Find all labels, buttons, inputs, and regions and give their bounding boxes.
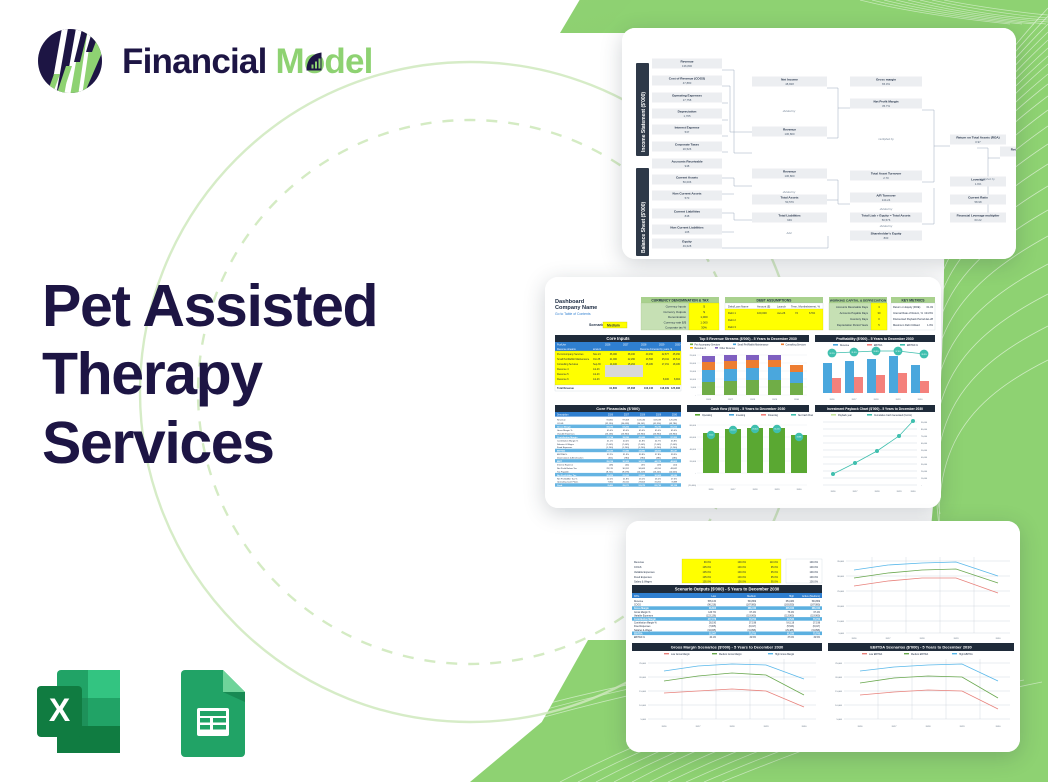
scenario-cell: (187,980)	[746, 605, 756, 607]
svg-text:Corporate tax %: Corporate tax %	[665, 326, 686, 330]
svg-text:CURRENCY DENOMINATION & TAX: CURRENCY DENOMINATION & TAX	[651, 298, 709, 302]
core-financials-header: Description	[557, 414, 569, 417]
svg-text:Medium EBITDA: Medium EBITDA	[911, 653, 929, 656]
svg-text:2028: 2028	[920, 638, 926, 640]
dupont-node-value: 570	[685, 196, 690, 200]
scenario-cell: 67.4%	[749, 612, 756, 614]
core-financials-cell: 81,312	[670, 427, 677, 429]
svg-text:COGS: COGS	[634, 566, 642, 569]
svg-text:105.0%: 105.0%	[703, 566, 712, 569]
core-financials-cell: (7,005)	[670, 444, 677, 446]
svg-text:23,604: 23,604	[752, 429, 758, 431]
svg-text:Fixed Expenses: Fixed Expenses	[634, 576, 653, 579]
brand-word-model-pre: M	[275, 42, 303, 81]
dashboard-screenshot[interactable]: Dashboard Company Name Go to Table of Co…	[545, 277, 941, 508]
svg-text:45,450: 45,450	[673, 353, 681, 356]
core-financials-cell: 59,670	[606, 427, 613, 429]
core-financials-cell: 65.0%	[671, 430, 677, 432]
scenario-cell: (5,543)	[787, 626, 795, 628]
dupont-node-value: 537	[685, 130, 690, 134]
svg-text:Accounts Receivable Days: Accounts Receivable Days	[836, 305, 869, 309]
svg-text:Revenue 4: Revenue 4	[557, 368, 569, 371]
svg-text:Debt 1: Debt 1	[728, 311, 736, 315]
svg-text:Total Revenue: Total Revenue	[557, 387, 575, 390]
svg-text:2028: 2028	[750, 399, 756, 401]
core-financials-cell: Gross Margin %	[557, 430, 572, 432]
svg-text:2027: 2027	[892, 726, 898, 728]
dupont-node-label: Depreciation	[678, 110, 697, 114]
scenario-cell: 37.0%	[787, 637, 794, 639]
core-financials-cell: 37.8%	[655, 454, 661, 456]
core-financials-cell: 23,844	[638, 474, 645, 477]
svg-text:2027: 2027	[886, 638, 892, 640]
core-financials-cell: 20,419	[606, 474, 613, 477]
dupont-node-label: Revenue	[783, 170, 796, 174]
dupont-node-label: Non Current Assets	[673, 192, 702, 196]
svg-text:18,180: 18,180	[673, 363, 681, 366]
brand-word-financial: Financial	[122, 42, 267, 81]
core-financials-cell: 52,675	[638, 485, 645, 487]
svg-text:100,000: 100,000	[757, 311, 767, 315]
scenario-cell: 90,520	[787, 619, 795, 621]
svg-text:Investing: Investing	[736, 414, 746, 417]
svg-text:Nov-24: Nov-24	[593, 353, 601, 356]
scenario-cell: COGS	[634, 605, 641, 607]
svg-text:2028: 2028	[641, 344, 647, 347]
core-financials-cell: (7,005)	[654, 444, 661, 446]
svg-text:31.9%: 31.9%	[851, 352, 857, 354]
dupont-node-value: 63.22	[975, 218, 982, 222]
svg-text:40,450: 40,450	[646, 353, 654, 356]
scenario-label: Scenario	[589, 323, 605, 327]
scenario-cell: Fixed Expenses	[634, 626, 651, 628]
core-financials-cell: 67,045	[638, 426, 645, 429]
svg-text:15,000: 15,000	[835, 691, 842, 693]
svg-text:7,900: 7,900	[709, 435, 714, 437]
dupont-node-value: 50,576	[785, 200, 794, 204]
svg-text:2030: 2030	[911, 491, 917, 493]
svg-text:2029: 2029	[954, 638, 960, 640]
svg-text:Top 5 Revenue Streams ($'000): Top 5 Revenue Streams ($'000) - 5 Years …	[699, 337, 797, 341]
svg-text:100.0%: 100.0%	[738, 576, 747, 579]
svg-text:30: 30	[878, 311, 881, 315]
scenario-cell: 594,869	[748, 601, 757, 603]
svg-text:20,000: 20,000	[690, 363, 697, 365]
svg-text:105.0%: 105.0%	[703, 581, 712, 584]
scenario-cell: 36,804	[709, 607, 717, 610]
svg-text:Debt/Loan Name: Debt/Loan Name	[728, 304, 749, 308]
svg-text:95.0%: 95.0%	[771, 576, 779, 579]
svg-text:100.0%: 100.0%	[810, 566, 819, 569]
scenario-cell: Contribution Margin	[634, 618, 657, 621]
core-financials-cell: 31,085	[622, 451, 629, 453]
svg-text:100.0%: 100.0%	[810, 561, 819, 564]
svg-text:2027: 2027	[696, 726, 702, 728]
svg-text:Consulting Services: Consulting Services	[786, 343, 807, 346]
svg-text:2027: 2027	[853, 491, 859, 493]
core-financials-cell: 32.2%	[607, 454, 613, 456]
core-financials-cell: Contribution Margin	[557, 436, 578, 439]
svg-text:2029: 2029	[960, 726, 966, 728]
core-financials-header: 2030	[672, 415, 678, 417]
core-financials-cell: Depreciation & Amortisation	[557, 457, 584, 460]
dupont-node-label: Operating Expenses	[672, 94, 702, 98]
svg-text:Small Pet/Rabbit Maintenance: Small Pet/Rabbit Maintenance	[738, 343, 770, 346]
scenario-cell: 40.1%	[709, 637, 716, 639]
svg-text:2027: 2027	[623, 344, 629, 347]
svg-text:Cash flow ($'000) - 5 Years to: Cash flow ($'000) - 5 Years to December …	[711, 407, 786, 411]
svg-text:2029: 2029	[897, 491, 903, 493]
excel-x-letter: X	[49, 692, 71, 728]
scenario-cell: 75.4%	[787, 612, 794, 614]
svg-text:23,596: 23,596	[646, 358, 654, 361]
svg-text:20,000: 20,000	[835, 677, 842, 679]
core-financials-cell: 29,529	[606, 451, 613, 453]
svg-text:80,000: 80,000	[921, 429, 928, 431]
dupont-node-label: Financial Leverage multiplier	[957, 214, 1000, 218]
dupont-node-value: 49,628	[683, 244, 692, 248]
svg-text:High Gross Margin: High Gross Margin	[775, 653, 795, 656]
svg-text:2030: 2030	[794, 399, 800, 401]
dupont-node-label: Total Liabilities	[778, 214, 801, 218]
svg-text:15,000: 15,000	[690, 371, 697, 373]
core-financials-header: 2027	[624, 415, 630, 417]
svg-text:DEBT ASSUMPTIONS: DEBT ASSUMPTIONS	[757, 298, 793, 302]
svg-text:Revenue streams: Revenue streams	[557, 348, 577, 351]
svg-text:Denomination: Denomination	[668, 315, 686, 319]
svg-text:2029: 2029	[764, 726, 770, 728]
svg-text:Inventory Days: Inventory Days	[850, 317, 869, 321]
core-financials-cell: 21.8%	[623, 478, 629, 480]
core-financials-cell: (29)	[657, 464, 661, 466]
svg-text:36,000: 36,000	[610, 353, 618, 356]
scenario-cell: (6,017)	[813, 626, 821, 628]
core-financials-cell: 48,842	[670, 468, 677, 470]
svg-text:10,000: 10,000	[921, 478, 928, 480]
scenario-cell: 277,778	[708, 619, 717, 621]
scenario-cell: 91,030	[787, 633, 795, 635]
core-financials-header: 2026	[608, 415, 614, 417]
scenario-cell: EBITDA	[634, 632, 643, 635]
left-content-column: Financial Model Pet AssistedTherapyServi…	[0, 0, 470, 782]
core-financials-cell: 30,305	[622, 461, 629, 463]
svg-text:Salary & Wages: Salary & Wages	[634, 581, 653, 584]
core-financials-cell: 30,261	[622, 468, 629, 470]
svg-text:Internal Rate of Return, %: Internal Rate of Return, %	[893, 311, 924, 315]
svg-text:2030: 2030	[996, 638, 1002, 640]
svg-text:Revenue 6: Revenue 6	[557, 378, 569, 381]
dupont-operator-label: divided by	[783, 109, 796, 113]
dupont-operator-label: multiplied by	[979, 177, 995, 181]
dupont-node-value: 47,880	[683, 81, 692, 85]
core-financials-cell: 63,250	[622, 427, 629, 429]
svg-text:25,000: 25,000	[690, 355, 697, 357]
core-financials-cell: 48,862	[670, 460, 677, 463]
dupont-node-label: Net Profit Margin	[874, 100, 899, 104]
svg-text:1.0%: 1.0%	[927, 323, 934, 327]
svg-text:110.0%: 110.0%	[770, 561, 779, 564]
svg-text:Financing: Financing	[768, 415, 779, 417]
core-financials-cell: 29,170	[606, 468, 613, 470]
svg-text:2026: 2026	[605, 344, 611, 347]
microsoft-excel-icon: X	[31, 664, 126, 759]
svg-text:2026: 2026	[709, 489, 715, 491]
scenario-header-cell: Medium	[747, 595, 756, 598]
core-financials-cell: 34,880	[638, 450, 645, 453]
svg-text:(20,000): (20,000)	[688, 485, 696, 487]
core-financials-cell: 91,800	[606, 420, 613, 422]
svg-text:Sep-36: Sep-36	[593, 363, 601, 366]
core-financials-cell: Contribution Margin %	[557, 439, 578, 442]
dupont-node-value: 65.0%	[882, 82, 890, 86]
svg-text:100.0%: 100.0%	[810, 571, 819, 574]
svg-text:39.3%: 39.3%	[921, 354, 927, 356]
dupont-node-value: 1,765	[684, 114, 691, 118]
svg-text:Depreciation Period Years: Depreciation Period Years	[837, 323, 869, 327]
scenario-canvas: RevenueCOGSVariable Expenses Fixed Expen…	[626, 521, 1020, 752]
svg-text:Jul-23: Jul-23	[593, 368, 600, 371]
svg-text:35,000: 35,000	[837, 561, 844, 563]
svg-text:WORKING CAPITAL & DEPRECIATION: WORKING CAPITAL & DEPRECIATION	[830, 298, 887, 302]
svg-text:20,611: 20,611	[730, 430, 735, 432]
core-financials-cell: (37)	[641, 464, 645, 466]
svg-text:8,400: 8,400	[663, 378, 670, 381]
svg-text:Small Pet/Rabbit Maintenance: Small Pet/Rabbit Maintenance	[557, 358, 590, 361]
dupont-node-value: 20,526	[683, 147, 692, 151]
svg-text:25,000: 25,000	[835, 663, 842, 665]
svg-text:2030: 2030	[996, 726, 1002, 728]
svg-text:Investment Payback Chart ($'00: Investment Payback Chart ($'000) - 5 Yea…	[827, 407, 923, 411]
dupont-node-value: 50,576	[882, 218, 891, 222]
dupont-operator-label: divided by	[880, 207, 893, 211]
svg-text:amount: amount	[593, 348, 601, 351]
svg-text:Term, Months: Term, Months	[791, 304, 808, 308]
dupont-node-value: 136,800	[784, 174, 795, 178]
svg-text:2028: 2028	[730, 726, 736, 728]
svg-text:6.5%: 6.5%	[809, 311, 816, 315]
scenario-cell: 75,700	[749, 633, 757, 635]
svg-text:100.0%: 100.0%	[738, 566, 747, 569]
svg-text:31,055: 31,055	[774, 429, 780, 431]
svg-text:15,264: 15,264	[628, 363, 636, 366]
core-financials-cell: 65.0%	[655, 430, 661, 432]
scenario-cell: 594,869	[812, 601, 821, 603]
svg-text:20,000: 20,000	[837, 606, 844, 608]
scenario-cell: (7,005)	[709, 626, 717, 628]
svg-text:2030: 2030	[675, 344, 681, 347]
core-financials-cell: 22.2%	[607, 478, 613, 480]
svg-text:30,000: 30,000	[921, 464, 928, 466]
svg-text:17,151: 17,151	[662, 363, 670, 366]
svg-text:95.0%: 95.0%	[771, 566, 779, 569]
svg-text:60,000: 60,000	[921, 443, 928, 445]
svg-text:21,000: 21,000	[610, 358, 618, 361]
svg-text:15,000: 15,000	[639, 691, 646, 693]
scenario-cell: (183,050)	[784, 605, 794, 607]
svg-text:Jul-23: Jul-23	[593, 378, 600, 381]
svg-text:105.0%: 105.0%	[703, 571, 712, 574]
svg-text:5,000: 5,000	[691, 387, 697, 389]
svg-text:32.2%: 32.2%	[829, 353, 835, 355]
core-financials-cell: 44,150	[654, 468, 661, 470]
dupont-node-value: 0.97	[975, 140, 981, 144]
core-financials-cell: 76,725	[654, 427, 661, 429]
dupont-node-label: Equity	[682, 240, 692, 244]
svg-text:Balance Sheet ($'000): Balance Sheet ($'000)	[641, 201, 647, 253]
svg-text:2026: 2026	[858, 726, 864, 728]
scenario-cell: EBITDA %	[634, 636, 645, 639]
dupont-node-label: Cost of Revenue (COGS)	[669, 77, 705, 81]
svg-text:Revenue Forecast by years, $: Revenue Forecast by years, $	[640, 348, 673, 351]
core-financials-cell: 34,100	[638, 460, 645, 463]
svg-text:Jan-26: Jan-26	[777, 311, 786, 315]
svg-text:Pet Accompany Services: Pet Accompany Services	[695, 343, 721, 346]
dupont-node-label: Current Ratio	[968, 196, 988, 200]
core-financials-cell: 43,085	[638, 436, 645, 439]
core-financials-cell: 40.4%	[623, 440, 629, 442]
svg-text:2030: 2030	[918, 399, 924, 401]
svg-text:Maximum Debt Utilised: Maximum Debt Utilised	[893, 323, 920, 327]
svg-text:42,877: 42,877	[662, 353, 670, 356]
svg-text:2027: 2027	[852, 399, 858, 401]
svg-text:Revenue 4: Revenue 4	[695, 348, 707, 350]
scenario-cell: (187,980)	[810, 605, 820, 607]
core-financials-cell: 29,071	[622, 485, 629, 487]
svg-text:61.03: 61.03	[927, 305, 934, 309]
core-financials-cell: EBITDA %	[557, 453, 567, 456]
svg-text:105.0%: 105.0%	[703, 576, 712, 579]
svg-text:30,000: 30,000	[837, 576, 844, 578]
dupont-node-label: Total Assets	[780, 196, 798, 200]
scenario-cell: 126.7%	[708, 612, 716, 614]
svg-text:5,000: 5,000	[839, 633, 845, 635]
scenario-cell: Revenue	[634, 601, 644, 603]
svg-text:2030: 2030	[802, 726, 808, 728]
core-financials-cell: 65.0%	[639, 430, 645, 432]
dupont-node-value: 50,006	[683, 180, 692, 184]
core-financials-cell: 8,460	[608, 484, 614, 487]
dashboard-canvas: Dashboard Company Name Go to Table of Co…	[545, 277, 941, 508]
svg-text:Pcs/Use: Pcs/Use	[557, 344, 567, 347]
svg-text:103,146: 103,146	[644, 387, 654, 390]
core-financials-cell: 41.1%	[607, 440, 613, 442]
dupont-node-value: 136,800	[682, 64, 693, 68]
svg-text:5,000: 5,000	[837, 719, 843, 721]
gross-margin-scenarios-title: Gross Margin Scenarios ($'000) - 5 Years…	[671, 645, 784, 650]
dupont-analysis-screenshot[interactable]: Income Statement ($'000) Balance Sheet (…	[622, 28, 1016, 259]
core-financials-cell: Net Profit Before Tax	[557, 467, 578, 470]
core-financials-header: 2028	[640, 415, 646, 417]
svg-text:14,400: 14,400	[610, 363, 618, 366]
core-financials-cell: Interest Expense	[557, 463, 574, 466]
svg-text:95.0%: 95.0%	[771, 581, 779, 584]
brand-word-model-post: del	[324, 42, 372, 81]
svg-text:97,308: 97,308	[627, 387, 635, 390]
svg-text:Revenue 5: Revenue 5	[557, 373, 569, 376]
pie-chart-bars-logo-icon	[32, 26, 108, 96]
dupont-node-value: 948	[685, 164, 690, 168]
svg-text:38,160: 38,160	[628, 353, 636, 356]
svg-text:2029: 2029	[896, 399, 902, 401]
dupont-node-value: 2.70	[883, 176, 889, 180]
core-financials-cell: (7,005)	[606, 444, 613, 446]
dupont-node-label: Current Liabilities	[674, 210, 701, 214]
svg-text:Jul-23: Jul-23	[593, 373, 600, 376]
scenario-cell: 32.5%	[813, 637, 820, 639]
svg-text:40,000: 40,000	[921, 457, 928, 459]
svg-text:Discounted Payback Period: Discounted Payback Period	[893, 317, 925, 321]
dupont-node-label: Revenue	[681, 60, 694, 64]
scenario-cell: Variable Expenses	[634, 614, 654, 617]
svg-text:Medium Gross Margin: Medium Gross Margin	[719, 653, 742, 656]
core-financials-cell: 23.1%	[639, 478, 645, 480]
svg-text:22,260: 22,260	[628, 358, 636, 361]
scenario-cell: 345,340	[786, 607, 795, 610]
svg-text:8,388: 8,388	[797, 437, 802, 439]
svg-text:Low EBITDA: Low EBITDA	[869, 653, 883, 656]
dupont-node-label: Return on Equity (ROE)	[1011, 148, 1016, 152]
dupont-node-value: 800	[884, 236, 889, 240]
dupont-node-value: 17,758	[683, 98, 692, 102]
dupont-node-label: Total Liab + Equity = Total Assets	[862, 214, 911, 218]
core-financials-cell: (48)	[609, 464, 613, 466]
scenario-cell: Salaries & Wages	[634, 629, 653, 632]
core-financials-cell: 37,734	[606, 436, 613, 439]
file-format-icons: X	[31, 664, 260, 759]
scenario-cell: Gross Margin %	[634, 611, 650, 614]
page-title: Pet AssistedTherapyServices	[42, 272, 442, 477]
dupont-operator-label: divided by	[783, 190, 796, 194]
dupont-node-label: Net Income	[781, 78, 798, 82]
core-financials-cell: 103,146	[637, 420, 646, 422]
svg-text:KEY METRICS: KEY METRICS	[901, 298, 925, 302]
scenario-outputs-title: Scenario Outputs ($'000) - 5 Years to De…	[675, 587, 780, 592]
svg-text:100.0%: 100.0%	[738, 571, 747, 574]
brand-word-model-o: o	[304, 44, 325, 79]
scenario-cell: 9.61.18	[786, 623, 794, 625]
dupont-node-value: 136,800	[784, 132, 795, 136]
svg-text:72: 72	[795, 311, 798, 315]
svg-text:5,000: 5,000	[641, 719, 647, 721]
core-financials-cell: 34,063	[638, 468, 645, 470]
svg-text:EBITDA: EBITDA	[874, 344, 883, 347]
core-financials-cell: EBIT	[557, 461, 563, 463]
scenario-header-cell: Active (Medium)	[802, 595, 820, 598]
dashboard-toc-link: Go to Table of Contents	[555, 312, 591, 316]
page-title-line-1: Pet Assisted	[42, 273, 377, 339]
core-financials-cell: 97,308	[622, 420, 629, 422]
svg-text:2028: 2028	[875, 491, 881, 493]
svg-text:Variable Expenses: Variable Expenses	[634, 571, 655, 574]
svg-text:Pet Accompany Services: Pet Accompany Services	[557, 353, 584, 356]
svg-text:Cumulative Cash Generated (Cum: Cumulative Cash Generated (Cumm)	[874, 414, 912, 417]
svg-text:High EBITDA: High EBITDA	[959, 653, 973, 656]
svg-text:2026: 2026	[852, 638, 858, 640]
svg-text:2028: 2028	[926, 726, 932, 728]
svg-text:Consulting Services: Consulting Services	[557, 363, 579, 366]
svg-text:2028: 2028	[874, 399, 880, 401]
svg-text:100.0%: 100.0%	[810, 576, 819, 579]
svg-text:Return on Equity (ROE): Return on Equity (ROE)	[893, 305, 921, 309]
core-financials-cell: Salaries & Wages	[557, 444, 574, 446]
core-financials-cell: 65.0%	[607, 430, 613, 432]
dupont-node-label: Gross margin	[876, 78, 896, 82]
scenario-cell: Gross Margin	[634, 608, 649, 610]
scenario-cell: 67.4%	[813, 612, 820, 614]
scenario-cell: 386,440	[748, 607, 757, 610]
scenario-analysis-screenshot[interactable]: RevenueCOGSVariable Expenses Fixed Expen…	[626, 521, 1020, 752]
svg-text:26,512: 26,512	[673, 358, 681, 361]
